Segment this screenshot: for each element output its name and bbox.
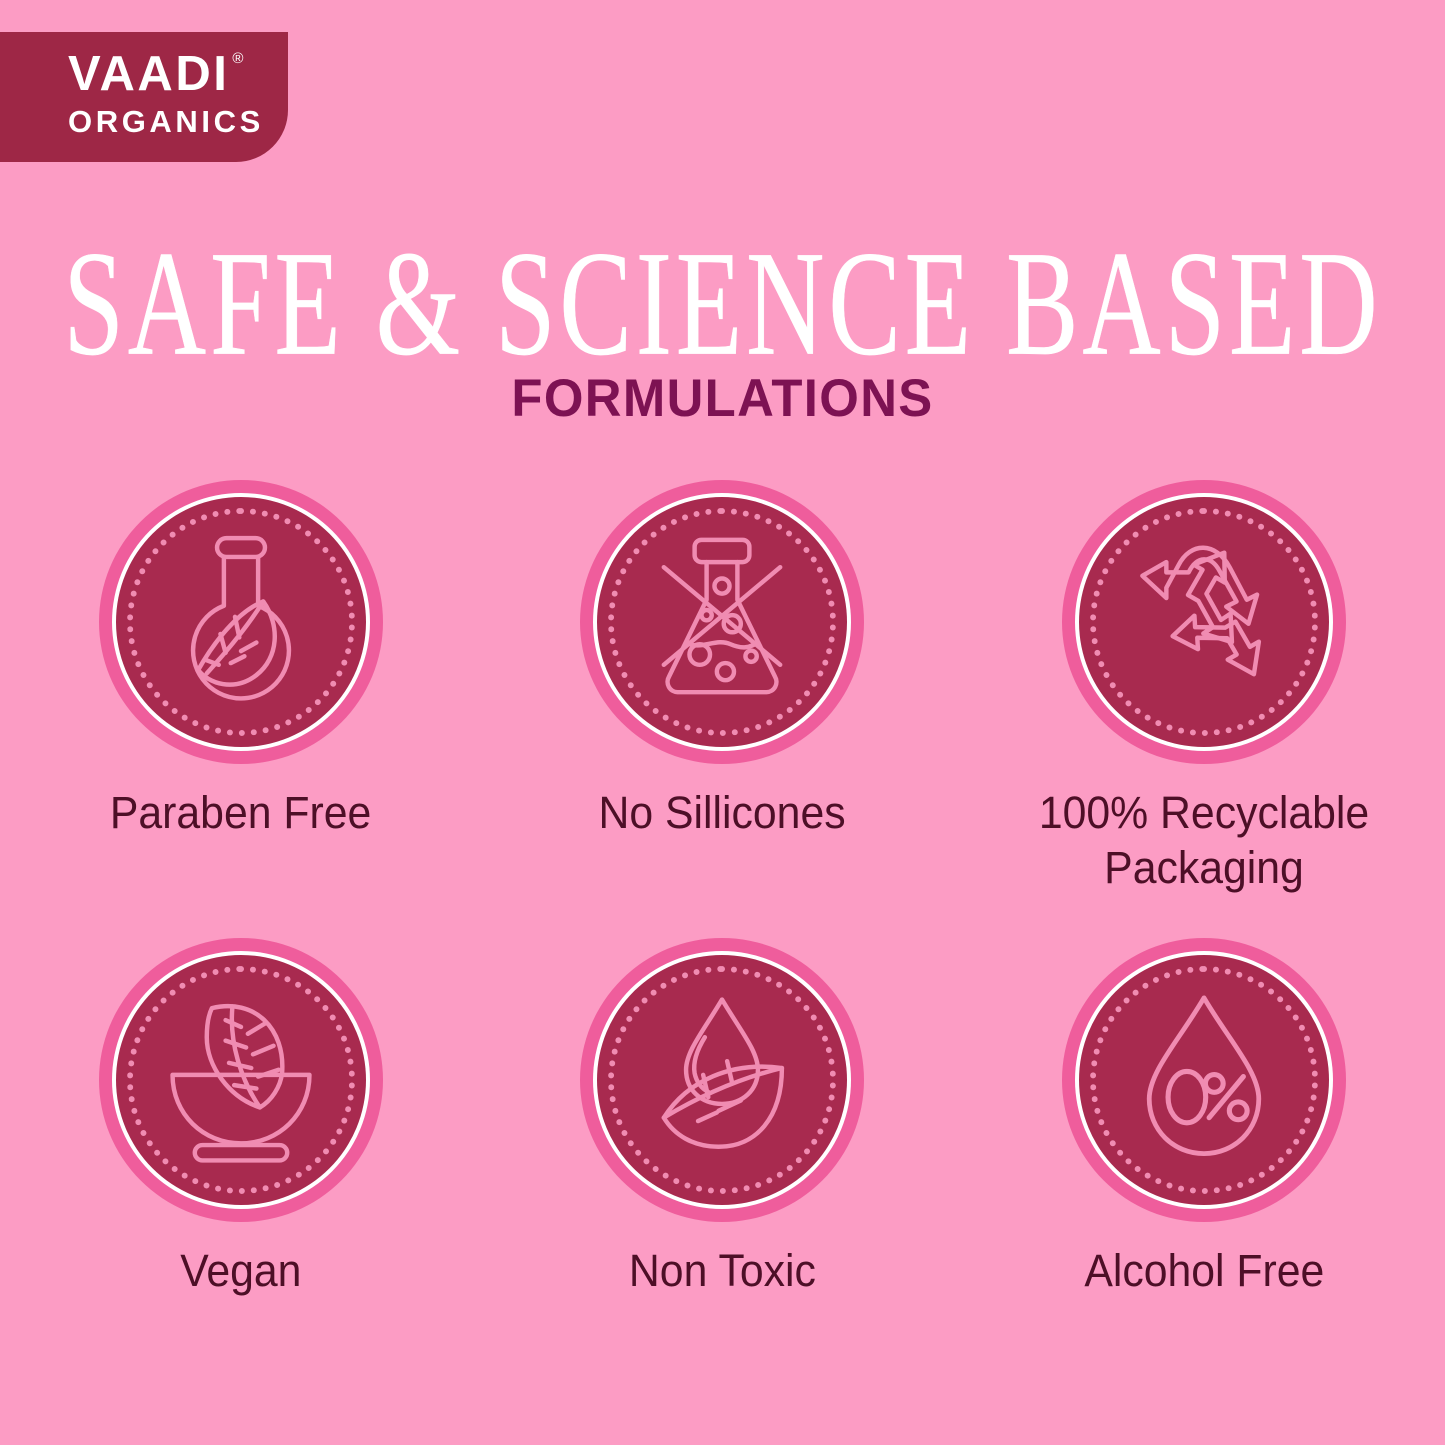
badge-face bbox=[116, 955, 366, 1205]
feature-item-paraben-free: Paraben Free bbox=[0, 480, 482, 896]
badge-no-sillicones bbox=[580, 480, 864, 764]
feature-badge-grid: Paraben Free bbox=[0, 480, 1445, 1299]
feature-item-recyclable-packaging: 100% Recyclable Packaging bbox=[963, 480, 1445, 896]
feature-item-no-sillicones: No Sillicones bbox=[482, 480, 964, 896]
badge-face bbox=[597, 955, 847, 1205]
badge-caption: Alcohol Free bbox=[1084, 1244, 1324, 1299]
brand-logo: VAADI® ORGANICS bbox=[0, 32, 288, 162]
brand-name: VAADI® bbox=[68, 50, 268, 98]
feature-item-vegan: Vegan bbox=[0, 938, 482, 1299]
droplet-on-leaf-icon bbox=[635, 991, 809, 1169]
badge-face bbox=[1079, 497, 1329, 747]
crossed-out-conical-flask-icon bbox=[635, 533, 809, 711]
droplet-zero-percent-icon: 0% bbox=[1117, 991, 1291, 1169]
badge-caption: No Sillicones bbox=[599, 786, 846, 841]
badge-recyclable-packaging bbox=[1062, 480, 1346, 764]
badge-face: 0% bbox=[1079, 955, 1329, 1205]
badge-non-toxic bbox=[580, 938, 864, 1222]
badge-caption: 100% Recyclable Packaging bbox=[1014, 786, 1394, 896]
badge-face bbox=[116, 497, 366, 747]
brand-tagline: ORGANICS bbox=[68, 104, 268, 140]
badge-alcohol-free: 0% bbox=[1062, 938, 1346, 1222]
round-flask-with-leaf-icon bbox=[154, 533, 328, 711]
feature-item-non-toxic: Non Toxic bbox=[482, 938, 964, 1299]
feature-item-alcohol-free: 0% Alcohol Free bbox=[963, 938, 1445, 1299]
page-title: SAFE & SCIENCE BASED bbox=[22, 229, 1424, 379]
page-subtitle: FORMULATIONS bbox=[29, 368, 1416, 429]
badge-caption: Vegan bbox=[180, 1244, 301, 1299]
recycle-arrows-icon bbox=[1117, 533, 1291, 711]
badge-caption: Non Toxic bbox=[629, 1244, 816, 1299]
brand-logo-text: VAADI® ORGANICS bbox=[68, 50, 268, 140]
badge-caption: Paraben Free bbox=[110, 786, 371, 841]
bowl-with-leaf-icon bbox=[154, 991, 328, 1169]
badge-paraben-free bbox=[99, 480, 383, 764]
brand-name-text: VAADI bbox=[68, 47, 229, 101]
registered-trademark-icon: ® bbox=[232, 52, 243, 67]
badge-vegan bbox=[99, 938, 383, 1222]
promo-poster: VAADI® ORGANICS SAFE & SCIENCE BASED FOR… bbox=[0, 0, 1445, 1445]
badge-face bbox=[597, 497, 847, 747]
